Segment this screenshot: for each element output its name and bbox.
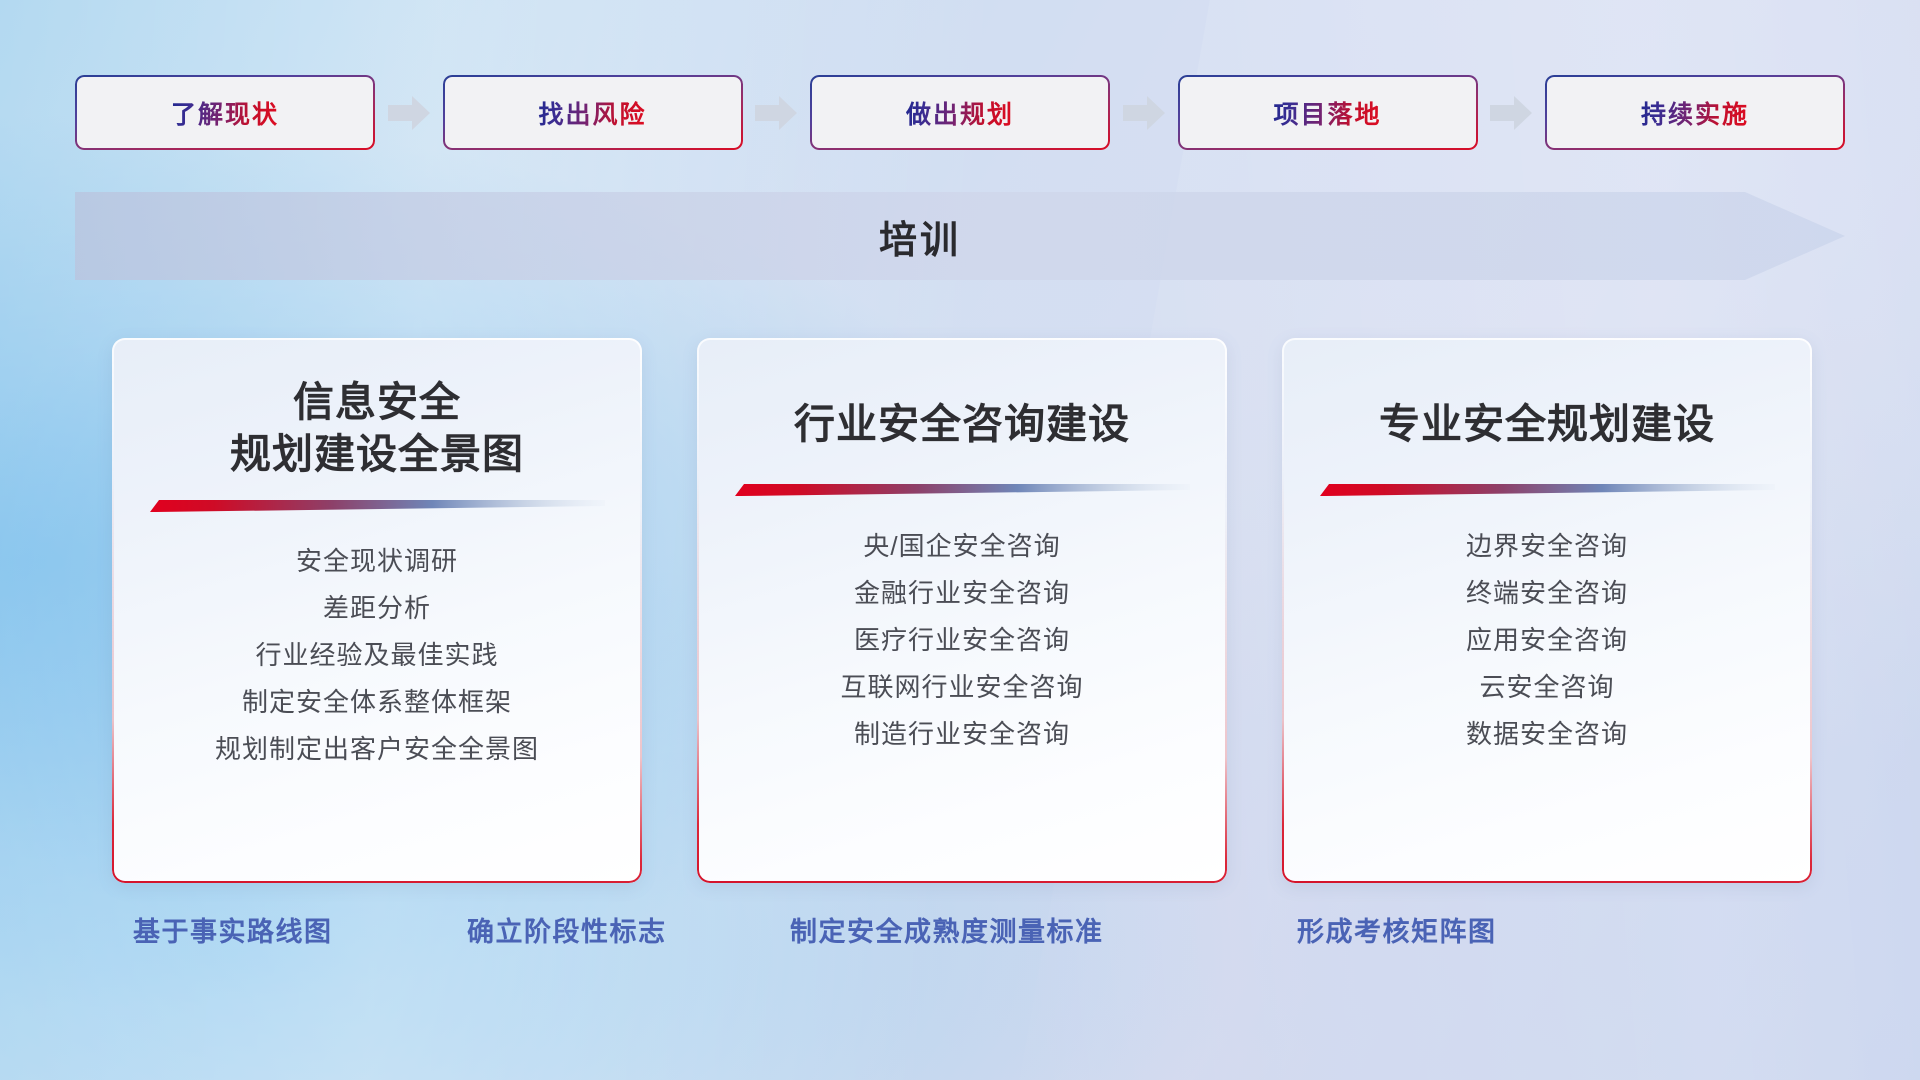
card-title: 信息安全 规划建设全景图 [112,376,642,481]
list-item[interactable]: 制定安全体系整体框架 [242,679,512,726]
gradient-divider-icon [1320,483,1775,496]
card-row: 信息安全 规划建设全景图 [112,338,1812,883]
step-box-5[interactable]: 持续实施 [1545,75,1845,150]
gradient-divider-icon [150,499,605,512]
caption-maturity: 制定安全成熟度测量标准 [790,910,1104,949]
step-box-1[interactable]: 了解现状 [75,75,375,150]
card-title-line: 专业安全规划建设 [1282,398,1812,450]
caption-row: 基于事实路线图 确立阶段性标志 制定安全成熟度测量标准 形成考核矩阵图 [0,910,1920,962]
step-label: 找出风险 [538,95,646,131]
caption-roadmap: 基于事实路线图 [133,910,333,949]
arrow-right-icon [1123,96,1165,130]
step-label: 做出规划 [906,95,1014,131]
list-item[interactable]: 边界安全咨询 [1466,523,1628,570]
list-item[interactable]: 安全现状调研 [296,538,458,585]
card-industry-security-consulting[interactable]: 行业安全咨询建设 [697,338,1227,883]
list-item[interactable]: 差距分析 [323,585,431,632]
list-item[interactable]: 终端安全咨询 [1466,570,1628,617]
step-box-2[interactable]: 找出风险 [443,75,743,150]
card-item-list: 边界安全咨询 终端安全咨询 应用安全咨询 云安全咨询 数据安全咨询 [1282,523,1812,758]
arrow-right-icon [755,96,797,130]
gradient-divider-icon [735,483,1190,496]
card-item-list: 央/国企安全咨询 金融行业安全咨询 医疗行业安全咨询 互联网行业安全咨询 制造行… [697,523,1227,758]
card-title-line: 规划建设全景图 [112,428,642,480]
process-step-row: 了解现状 找出风险 做出规划 项目落地 [75,75,1845,150]
arrow-right-icon [1490,96,1532,130]
list-item[interactable]: 应用安全咨询 [1466,617,1628,664]
list-item[interactable]: 医疗行业安全咨询 [854,617,1070,664]
step-box-4[interactable]: 项目落地 [1178,75,1478,150]
list-item[interactable]: 云安全咨询 [1479,664,1614,711]
card-title-line: 信息安全 [112,376,642,428]
list-item[interactable]: 数据安全咨询 [1466,711,1628,758]
list-item[interactable]: 金融行业安全咨询 [854,570,1070,617]
list-item[interactable]: 央/国企安全咨询 [863,523,1060,570]
training-banner: 培训 [75,192,1845,280]
card-title-line: 行业安全咨询建设 [697,398,1227,450]
card-professional-security-planning[interactable]: 专业安全规划建设 [1282,338,1812,883]
card-item-list: 安全现状调研 差距分析 行业经验及最佳实践 制定安全体系整体框架 规划制定出客户… [112,538,642,773]
card-title: 专业安全规划建设 [1282,398,1812,450]
card-info-security-blueprint[interactable]: 信息安全 规划建设全景图 [112,338,642,883]
list-item[interactable]: 制造行业安全咨询 [854,711,1070,758]
step-box-3[interactable]: 做出规划 [810,75,1110,150]
step-label: 了解现状 [171,95,279,131]
list-item[interactable]: 互联网行业安全咨询 [840,664,1083,711]
caption-matrix: 形成考核矩阵图 [1297,910,1497,949]
card-title: 行业安全咨询建设 [697,398,1227,450]
slide-stage: 了解现状 找出风险 做出规划 项目落地 [0,0,1920,1080]
list-item[interactable]: 行业经验及最佳实践 [255,632,498,679]
training-label: 培训 [75,192,1765,280]
step-label: 持续实施 [1641,95,1749,131]
caption-milestone: 确立阶段性标志 [467,910,667,949]
list-item[interactable]: 规划制定出客户安全全景图 [215,726,539,773]
step-label: 项目落地 [1273,95,1381,131]
arrow-right-icon [388,96,430,130]
